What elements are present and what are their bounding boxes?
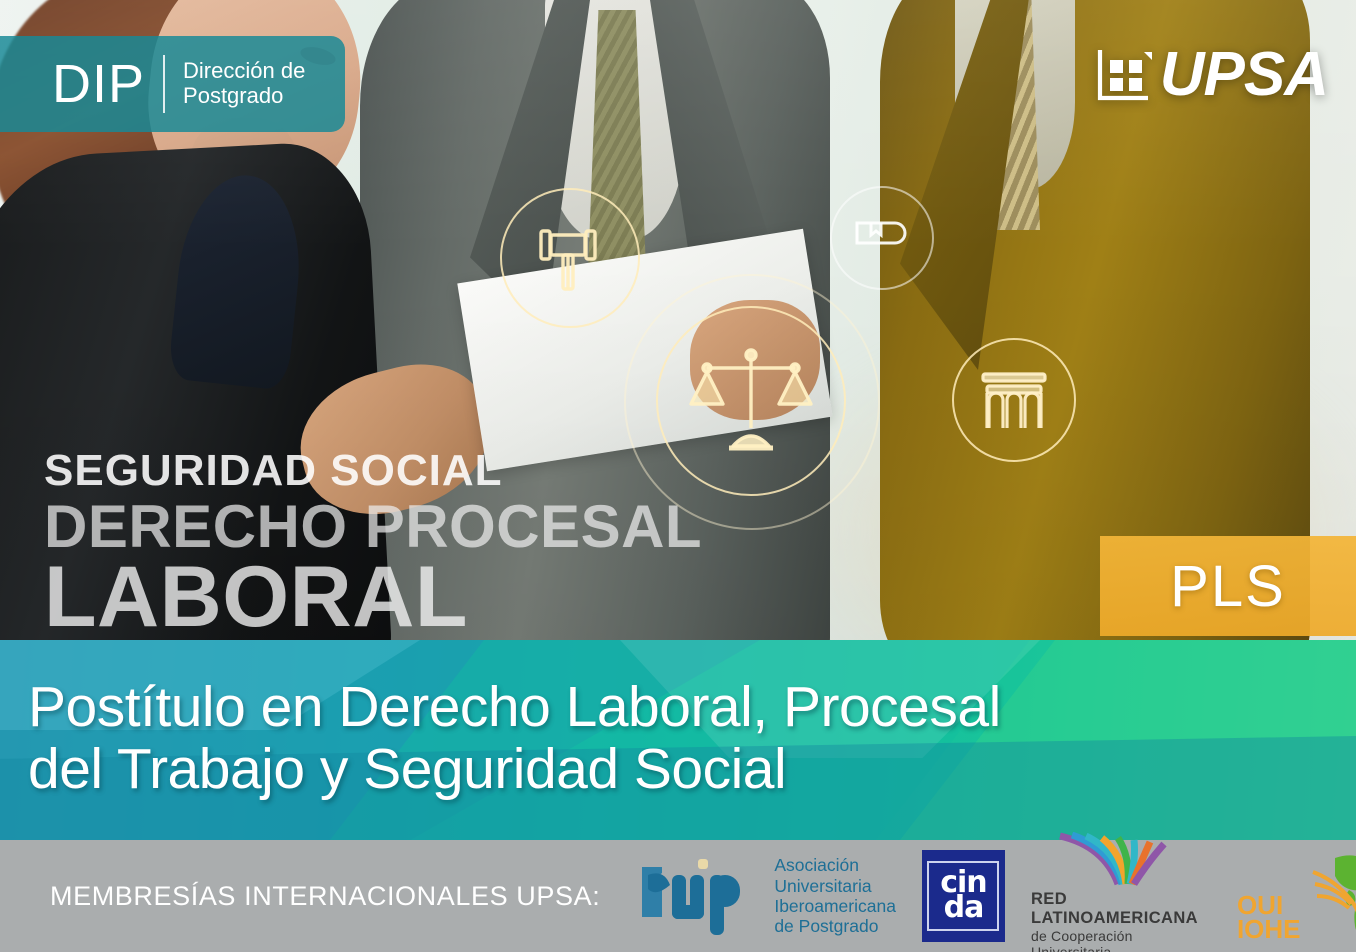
- oui-line2: IOHE: [1237, 918, 1301, 942]
- auip-text: Asociación Universitaria Iberoamericana …: [774, 855, 896, 937]
- auip-wordmark-icon: [638, 853, 764, 939]
- memberships-label: MEMBRESÍAS INTERNACIONALES UPSA:: [0, 881, 600, 912]
- oui-iohe-logo: OUI IOHE: [1237, 850, 1356, 942]
- cinda-line2: da: [944, 896, 984, 921]
- auip-text-line1: Asociación: [774, 855, 896, 875]
- gavel-icon: [500, 188, 640, 328]
- red-latinoamericana-line2: de Cooperación Universitaria: [1031, 928, 1211, 952]
- dip-subtitle-line2: Postgrado: [183, 84, 305, 109]
- red-latinoamericana-line1: RED LATINOAMERICANA: [1031, 890, 1211, 928]
- upsa-logo: UPSA: [1092, 44, 1328, 106]
- dip-divider: [163, 55, 165, 113]
- pls-badge: PLS: [1100, 536, 1356, 636]
- memberships-footer: MEMBRESÍAS INTERNACIONALES UPSA: Asociac…: [0, 840, 1356, 952]
- upsa-emblem-icon: [1092, 44, 1154, 106]
- americas-map-icon: [1305, 850, 1356, 942]
- dip-subtitle-line1: Dirección de: [183, 59, 305, 84]
- auip-text-line3: Iberoamericana: [774, 896, 896, 916]
- dip-acronym: DIP: [0, 57, 145, 111]
- auip-text-line4: de Postgrado: [774, 916, 896, 936]
- ghost-headline-seguridad-social: SEGURIDAD SOCIAL: [44, 446, 502, 496]
- dip-logo-badge: DIP Dirección de Postgrado: [0, 36, 345, 132]
- auip-logo: Asociación Universitaria Iberoamericana …: [638, 853, 896, 939]
- red-latinoamericana-ribbon-icon: [1046, 832, 1196, 890]
- program-title-line1: Postítulo en Derecho Laboral, Procesal: [28, 675, 1001, 739]
- dip-subtitle: Dirección de Postgrado: [183, 59, 305, 108]
- auip-text-line2: Universitaria: [774, 876, 896, 896]
- cinda-logo: cin da: [922, 850, 1005, 942]
- membership-logos: Asociación Universitaria Iberoamericana …: [638, 832, 1356, 952]
- law-book-icon: [830, 186, 934, 290]
- courthouse-columns-icon: [952, 338, 1076, 462]
- upsa-wordmark: UPSA: [1160, 44, 1328, 106]
- oui-iohe-text: OUI IOHE: [1237, 894, 1301, 942]
- cinda-inner-frame: cin da: [927, 861, 999, 931]
- red-latinoamericana-logo: RED LATINOAMERICANA de Cooperación Unive…: [1031, 832, 1211, 952]
- program-title: Postítulo en Derecho Laboral, Procesal d…: [28, 676, 1328, 800]
- promotional-banner: SEGURIDAD SOCIAL DERECHO PROCESAL LABORA…: [0, 0, 1356, 952]
- pls-label: PLS: [1170, 553, 1286, 620]
- program-title-line2: del Trabajo y Seguridad Social: [28, 738, 1328, 800]
